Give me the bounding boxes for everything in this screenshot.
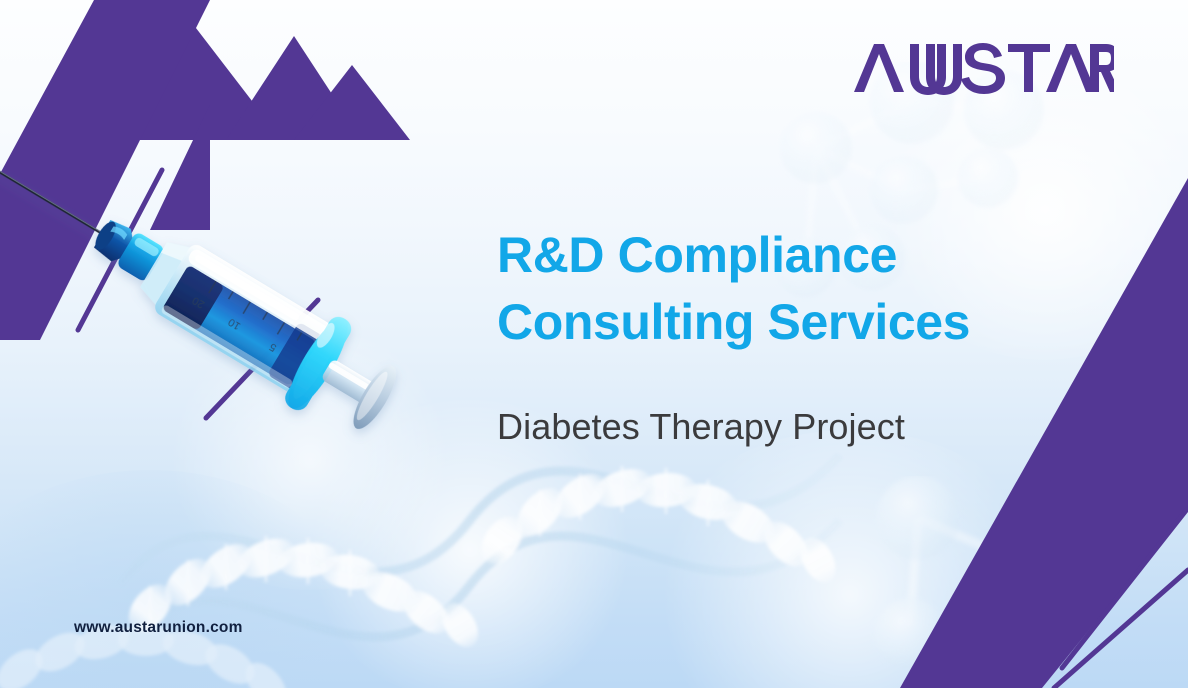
triangle-pattern: [104, 0, 434, 150]
svg-text:5: 5: [267, 340, 278, 353]
accent-line-mid: [190, 290, 350, 430]
austar-logo: [852, 38, 1114, 100]
promotional-banner: 20 10 5: [0, 0, 1188, 688]
svg-text:20: 20: [190, 294, 207, 311]
light-bloom-lower-right: [640, 430, 1060, 688]
svg-text:10: 10: [226, 315, 243, 332]
accent-line-left: [20, 160, 220, 350]
syringe-illustration: 20 10 5: [0, 130, 420, 460]
page-subtitle: Diabetes Therapy Project: [497, 406, 905, 448]
light-bloom-mid-left: [160, 330, 460, 590]
molecule-watermark-bottom: [862, 476, 1122, 688]
website-url: www.austarunion.com: [74, 619, 243, 637]
tint-bloom-lower-left: [0, 470, 360, 688]
diagonal-band-top-left: [0, 0, 210, 350]
page-title: R&D Compliance Consulting Services: [497, 222, 1117, 355]
